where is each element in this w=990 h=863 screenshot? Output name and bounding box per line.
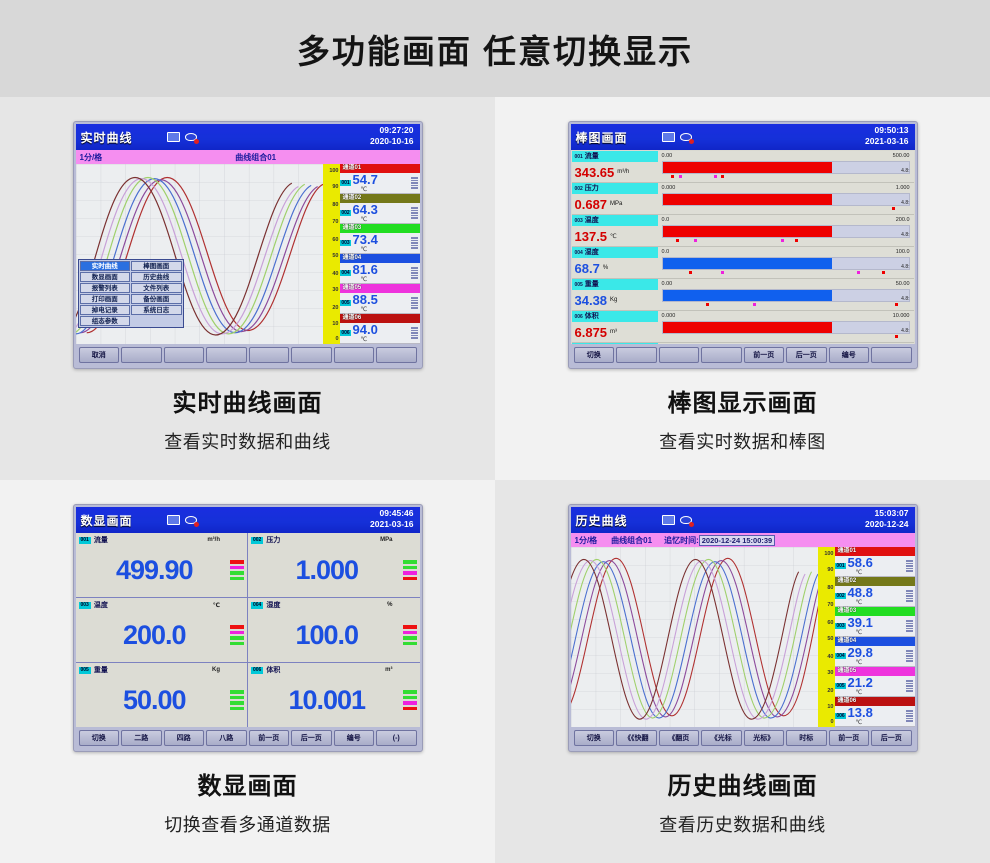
screen-title: 数显画面	[81, 512, 133, 529]
bar-scale-right: 4.8:	[901, 296, 909, 302]
fkey-4[interactable]: 前一页	[249, 730, 290, 746]
fkey-5[interactable]: 后一页	[786, 347, 827, 363]
digital-value: 499.90	[79, 557, 231, 584]
clock-time: 09:27:20	[379, 125, 413, 135]
panel-caption-sub: 查看实时数据和曲线	[164, 428, 331, 454]
bar-row-tag: 006	[575, 314, 583, 320]
axis-tick-10: 0	[830, 719, 833, 725]
bar-row-name: 003 温度	[572, 215, 658, 226]
bar-row-tag: 004	[575, 250, 583, 256]
bar-row-unit: Kg	[610, 297, 617, 303]
digital-unit: MPa	[380, 537, 392, 543]
menu-item-10[interactable]: 组态参数	[80, 316, 131, 326]
device-screen-bargraph[interactable]: 棒图画面 09:50:13 2021-03-16 001 流量	[568, 121, 918, 369]
bar-row-name: 002 压力	[572, 183, 658, 194]
function-key-bar: 切换 二路 四路 八路 前一页 后一页 编号 (-)	[76, 727, 420, 749]
bar-row-value: 0.687	[575, 198, 608, 211]
channel-value: 21.2	[847, 676, 906, 689]
bar-marks: 4.8:	[662, 270, 910, 278]
digital-cell[interactable]: 004 湿度 % 100.0	[248, 598, 420, 662]
channel-value: 81.6	[352, 263, 411, 276]
bar-track	[662, 289, 910, 302]
clock: 09:27:20 2020-10-16	[370, 125, 413, 147]
device-screen-digital[interactable]: 数显画面 09:45:46 2021-03-16 001 流量	[73, 504, 423, 752]
axis-tick-7: 30	[827, 670, 833, 676]
channel-indicator	[411, 203, 420, 223]
digital-name: 温度	[94, 600, 108, 610]
channel-tag: 001	[835, 563, 845, 569]
digital-name: 体积	[266, 665, 280, 675]
bar-row-tag: 003	[575, 218, 583, 224]
curve-infobar: 1分/格 曲线组合01 追忆时间: 2020-12-24 15:00:39	[571, 533, 915, 547]
panel-caption-sub: 切换查看多通道数据	[164, 811, 331, 837]
bar-row[interactable]: 005 重量 34.38 Kg 0.00 50.00	[572, 279, 914, 311]
clock-date: 2020-12-24	[865, 519, 908, 529]
bar-rows: 001 流量 343.65 m³/h 0.00 500.00	[571, 150, 915, 344]
alarm-leds	[403, 690, 417, 710]
digital-cell[interactable]: 001 流量 m³/h 499.90	[76, 533, 248, 597]
channel-indicator	[411, 233, 420, 253]
channel-header: 通道02	[835, 577, 915, 586]
bar-row-value: 34.38	[575, 294, 608, 307]
channel-tag: 002	[340, 210, 350, 216]
menu-item-7[interactable]: 备份画面	[131, 294, 182, 304]
digital-value: 100.0	[251, 622, 403, 649]
channel-row[interactable]: 通道02 002 48.8 ℃	[835, 577, 915, 607]
channel-header: 通道06	[835, 697, 915, 706]
function-key-bar: 取消	[76, 344, 420, 366]
panel-history-curve: 历史曲线 15:03:07 2020-12-24 1分/格 曲线组合01 追忆时…	[495, 480, 990, 863]
digital-cell[interactable]: 005 重量 Kg 50.00	[76, 663, 248, 727]
recall-time-value[interactable]: 2020-12-24 15:00:39	[699, 535, 775, 546]
clock: 09:50:13 2021-03-16	[865, 125, 908, 147]
channel-unit: ℃	[847, 659, 906, 666]
channel-header: 通道04	[835, 637, 915, 646]
titlebar-icons	[662, 132, 693, 143]
fkey-5[interactable]	[291, 347, 332, 363]
bar-track	[662, 161, 910, 174]
bar-max: 100.0	[896, 249, 910, 255]
panel-digital: 数显画面 09:45:46 2021-03-16 001 流量	[0, 480, 495, 863]
channel-header: 通道05	[340, 284, 420, 293]
channel-header: 通道04	[340, 254, 420, 263]
bar-marks: 4.8:	[662, 334, 910, 342]
axis-tick-1: 90	[332, 184, 338, 190]
channel-indicator	[906, 676, 915, 696]
channel-unit: ℃	[352, 186, 411, 193]
panel-caption-sub: 查看实时数据和棒图	[659, 428, 826, 454]
digital-cell[interactable]: 006 体积 m³ 10.001	[248, 663, 420, 727]
channel-indicator	[906, 706, 915, 726]
channel-indicator	[906, 556, 915, 576]
channel-row[interactable]: 通道03 003 73.4 ℃	[340, 224, 420, 254]
panel-caption-title: 历史曲线画面	[668, 766, 818, 801]
screen-body: 1分/格 曲线组合01 追忆时间: 2020-12-24 15:00:39	[571, 533, 915, 727]
bar-row-value: 68.7	[575, 262, 600, 275]
fkey-0[interactable]: 切换	[79, 730, 120, 746]
alarm-leds	[403, 625, 417, 645]
bar-row-tag: 001	[575, 154, 583, 160]
bar-min: 0.00	[662, 281, 673, 287]
fkey-5[interactable]: 时标	[786, 730, 827, 746]
bar-row-tag: 002	[575, 186, 583, 192]
fkey-6[interactable]: 编号	[829, 347, 870, 363]
screen-body: 1分/格 曲线组合01	[76, 150, 420, 344]
rate-label: 1分/格	[80, 152, 103, 163]
bar-min: 0.00	[662, 153, 673, 159]
bar-max: 500.00	[893, 153, 910, 159]
fkey-6[interactable]: 前一页	[829, 730, 870, 746]
group-label: 曲线组合01	[235, 152, 276, 163]
channel-tag: 005	[340, 300, 350, 306]
fkey-6[interactable]: 编号	[334, 730, 375, 746]
channel-header: 通道03	[340, 224, 420, 233]
usb-icon	[185, 515, 198, 526]
clock-date: 2020-10-16	[370, 136, 413, 146]
fkey-3[interactable]	[701, 347, 742, 363]
titlebar-icons	[167, 132, 198, 143]
bar-row[interactable]: 003 温度 137.5 ℃ 0.0 200.0	[572, 215, 914, 247]
panel-caption-sub: 查看历史数据和曲线	[659, 811, 826, 837]
digital-value: 50.00	[79, 687, 231, 714]
rate-label: 1分/格	[575, 535, 598, 546]
bar-scale-right: 4.8:	[901, 264, 909, 270]
channel-indicator	[411, 173, 420, 193]
screen-title: 历史曲线	[576, 512, 628, 529]
fkey-7[interactable]: 后一页	[871, 730, 912, 746]
alarm-leds	[230, 560, 244, 580]
fkey-0[interactable]: 取消	[79, 347, 120, 363]
bar-row[interactable]: 001 流量 343.65 m³/h 0.00 500.00	[572, 151, 914, 183]
channel-header: 通道06	[340, 314, 420, 323]
channel-tag: 006	[340, 330, 350, 336]
channel-tag: 004	[835, 653, 845, 659]
bar-track	[662, 257, 910, 270]
channel-unit: ℃	[847, 569, 906, 576]
channel-header: 通道05	[835, 667, 915, 676]
bar-max: 1.000	[896, 185, 910, 191]
curve-popup-menu[interactable]: 实时曲线 棒图画面 数显画面 历史曲线 报警列表 文件列表 打印画面 备份画面 …	[78, 259, 184, 328]
sd-card-icon	[662, 515, 675, 525]
channel-value: 88.5	[352, 293, 411, 306]
axis-tick-2: 80	[827, 585, 833, 591]
bar-row-value: 137.5	[575, 230, 608, 243]
group-label: 曲线组合01	[611, 535, 652, 546]
digital-unit: %	[387, 602, 392, 608]
channel-row[interactable]: 通道04 004 81.6 ℃	[340, 254, 420, 284]
sd-card-icon	[662, 132, 675, 142]
screen-body: 001 流量 m³/h 499.90 002 压力	[76, 533, 420, 727]
axis-tick-1: 90	[827, 567, 833, 573]
panel-grid: 实时曲线 09:27:20 2020-10-16 1分/格 曲线组合01	[0, 97, 990, 863]
digital-unit: Kg	[212, 667, 220, 673]
channel-unit: ℃	[352, 216, 411, 223]
digital-value: 200.0	[79, 622, 231, 649]
titlebar: 实时曲线 09:27:20 2020-10-16	[76, 124, 420, 150]
channel-value: 39.1	[847, 616, 906, 629]
digital-cell[interactable]: 003 温度 ℃ 200.0	[76, 598, 248, 662]
titlebar: 棒图画面 09:50:13 2021-03-16	[571, 124, 915, 150]
fkey-4[interactable]: 光标》	[744, 730, 785, 746]
menu-item-1[interactable]: 棒图画面	[131, 261, 182, 271]
channel-row[interactable]: 通道04 004 29.8 ℃	[835, 637, 915, 667]
axis-tick-8: 20	[332, 305, 338, 311]
axis-tick-0: 100	[329, 168, 338, 174]
channel-tag: 001	[340, 180, 350, 186]
channel-header: 通道01	[835, 547, 915, 556]
panel-caption-title: 实时曲线画面	[173, 383, 323, 418]
clock-time: 09:45:46	[379, 508, 413, 518]
digital-tag: 003	[79, 602, 91, 609]
axis-tick-5: 50	[827, 636, 833, 642]
bar-row-value: 343.65	[575, 166, 615, 179]
channel-value: 13.8	[847, 706, 906, 719]
fkey-7[interactable]	[376, 347, 417, 363]
bar-marks: 4.8:	[662, 174, 910, 182]
bar-row[interactable]: 004 湿度 68.7 % 0.0 100.0	[572, 247, 914, 279]
page-title: 多功能画面 任意切换显示	[297, 25, 693, 73]
curve-plot-area[interactable]	[571, 547, 818, 727]
channel-row[interactable]: 通道03 003 39.1 ℃	[835, 607, 915, 637]
channel-indicator	[411, 293, 420, 313]
fkey-1[interactable]: 二路	[121, 730, 162, 746]
menu-item-3[interactable]: 历史曲线	[131, 272, 182, 282]
menu-item-9[interactable]: 系统日志	[131, 305, 182, 315]
fkey-2[interactable]	[164, 347, 205, 363]
channel-indicator	[906, 616, 915, 636]
menu-item-8[interactable]: 掉电记录	[80, 305, 131, 315]
channel-indicator	[906, 646, 915, 666]
channel-row[interactable]: 通道02 002 64.3 ℃	[340, 194, 420, 224]
bar-row-unit: MPa	[610, 201, 622, 207]
bar-marks: 4.8:	[662, 238, 910, 246]
channel-indicator	[411, 323, 420, 343]
channel-value: 64.3	[352, 203, 411, 216]
axis-tick-10: 0	[335, 336, 338, 342]
bar-row-unit: ℃	[610, 233, 617, 240]
fkey-3[interactable]	[206, 347, 247, 363]
usb-icon	[680, 515, 693, 526]
digital-tag: 002	[251, 537, 263, 544]
fkey-3[interactable]: 八路	[206, 730, 247, 746]
device-screen-history[interactable]: 历史曲线 15:03:07 2020-12-24 1分/格 曲线组合01 追忆时…	[568, 504, 918, 752]
channel-value: 54.7	[352, 173, 411, 186]
bar-row-tag: 005	[575, 282, 583, 288]
axis-tick-5: 50	[332, 253, 338, 259]
digital-name: 压力	[266, 535, 280, 545]
bar-row[interactable]: 002 压力 0.687 MPa 0.000 1.000	[572, 183, 914, 215]
curve-y-axis: 100 90 80 70 60 50 40 30 20 10 0	[818, 547, 835, 727]
bar-row-value: 6.875	[575, 326, 608, 339]
fkey-2[interactable]	[659, 347, 700, 363]
axis-tick-3: 70	[332, 219, 338, 225]
fkey-4[interactable]	[249, 347, 290, 363]
channel-unit: ℃	[352, 276, 411, 283]
device-screen-realtime[interactable]: 实时曲线 09:27:20 2020-10-16 1分/格 曲线组合01	[73, 121, 423, 369]
fkey-0[interactable]: 切换	[574, 347, 615, 363]
recall-label: 追忆时间:	[664, 535, 699, 546]
bar-row-name: 001 流量	[572, 151, 658, 162]
channel-tag: 006	[835, 713, 845, 719]
channel-tag: 002	[835, 593, 845, 599]
channel-row[interactable]: 通道06 006 94.0 ℃	[340, 314, 420, 344]
panel-bargraph: 棒图画面 09:50:13 2021-03-16 001 流量	[495, 97, 990, 480]
bar-min: 0.000	[662, 185, 676, 191]
bar-track	[662, 225, 910, 238]
titlebar: 历史曲线 15:03:07 2020-12-24	[571, 507, 915, 533]
channel-tag: 003	[340, 240, 350, 246]
curve-plot-area[interactable]: 实时曲线 棒图画面 数显画面 历史曲线 报警列表 文件列表 打印画面 备份画面 …	[76, 164, 323, 344]
digital-name: 重量	[94, 665, 108, 675]
digital-tag: 001	[79, 537, 91, 544]
menu-item-4[interactable]: 报警列表	[80, 283, 131, 293]
bar-marks: 4.8:	[662, 206, 910, 214]
channel-row[interactable]: 通道05 005 21.2 ℃	[835, 667, 915, 697]
digital-cell[interactable]: 002 压力 MPa 1.000	[248, 533, 420, 597]
axis-tick-2: 80	[332, 202, 338, 208]
menu-item-6[interactable]: 打印画面	[80, 294, 131, 304]
curve-svg	[571, 547, 818, 727]
channel-value: 29.8	[847, 646, 906, 659]
page-banner: 多功能画面 任意切换显示	[0, 0, 990, 97]
sd-card-icon	[167, 132, 180, 142]
digital-unit: ℃	[213, 602, 220, 609]
fkey-4[interactable]: 前一页	[744, 347, 785, 363]
channel-header: 通道01	[340, 164, 420, 173]
usb-icon	[185, 132, 198, 143]
channel-value: 94.0	[352, 323, 411, 336]
usb-icon	[680, 132, 693, 143]
menu-item-2[interactable]: 数显画面	[80, 272, 131, 282]
axis-tick-4: 60	[332, 237, 338, 243]
screen-body: 001 流量 343.65 m³/h 0.00 500.00	[571, 150, 915, 344]
axis-tick-4: 60	[827, 620, 833, 626]
fkey-0[interactable]: 切换	[574, 730, 615, 746]
bar-row-name: 005 重量	[572, 279, 658, 290]
titlebar-icons	[662, 515, 693, 526]
channel-value: 73.4	[352, 233, 411, 246]
alarm-leds	[230, 625, 244, 645]
curve-infobar: 1分/格 曲线组合01	[76, 150, 420, 164]
bar-min: 0.0	[662, 217, 670, 223]
digital-value: 10.001	[251, 687, 403, 714]
digital-name: 流量	[94, 535, 108, 545]
channel-unit: ℃	[352, 306, 411, 313]
bar-min: 0.0	[662, 249, 670, 255]
channel-tag: 004	[340, 270, 350, 276]
fkey-7[interactable]: (-)	[376, 730, 417, 746]
sd-card-icon	[167, 515, 180, 525]
channel-value: 58.6	[847, 556, 906, 569]
fkey-1[interactable]: 《《快翻	[616, 730, 657, 746]
digital-grid: 001 流量 m³/h 499.90 002 压力	[76, 533, 420, 727]
fkey-5[interactable]: 后一页	[291, 730, 332, 746]
axis-tick-9: 10	[827, 704, 833, 710]
bar-min: 0.000	[662, 313, 676, 319]
menu-item-5[interactable]: 文件列表	[131, 283, 182, 293]
menu-item-0[interactable]: 实时曲线	[80, 261, 131, 271]
channel-header: 通道03	[835, 607, 915, 616]
bar-scale-right: 4.8:	[901, 168, 909, 174]
panel-caption-title: 棒图显示画面	[668, 383, 818, 418]
channel-unit: ℃	[847, 599, 906, 606]
panel-caption-title: 数显画面	[198, 766, 298, 801]
bar-row-unit: m³/h	[617, 169, 629, 175]
bar-max: 200.0	[896, 217, 910, 223]
function-key-bar: 切换 前一页 后一页 编号	[571, 344, 915, 366]
digital-unit: m³/h	[207, 537, 220, 543]
titlebar: 数显画面 09:45:46 2021-03-16	[76, 507, 420, 533]
fkey-1[interactable]	[616, 347, 657, 363]
bar-track	[662, 193, 910, 206]
clock-date: 2021-03-16	[370, 519, 413, 529]
function-key-bar: 切换 《《快翻 《翻页 《光标 光标》 时标 前一页 后一页	[571, 727, 915, 749]
channel-row[interactable]: 通道01 001 58.6 ℃	[835, 547, 915, 577]
bar-max: 50.00	[896, 281, 910, 287]
channel-row[interactable]: 通道06 006 13.8 ℃	[835, 697, 915, 727]
channel-list: 通道01 001 58.6 ℃	[835, 547, 915, 727]
channel-unit: ℃	[847, 719, 906, 726]
bar-scale-right: 4.8:	[901, 328, 909, 334]
channel-row[interactable]: 通道05 005 88.5 ℃	[340, 284, 420, 314]
channel-unit: ℃	[847, 689, 906, 696]
digital-name: 湿度	[266, 600, 280, 610]
channel-header: 通道02	[340, 194, 420, 203]
axis-tick-3: 70	[827, 602, 833, 608]
channel-value: 48.8	[847, 586, 906, 599]
bar-marks: 4.8:	[662, 302, 910, 310]
channel-row[interactable]: 通道01 001 54.7 ℃	[340, 164, 420, 194]
axis-tick-6: 40	[827, 654, 833, 660]
axis-tick-6: 40	[332, 271, 338, 277]
bar-scale-right: 4.8:	[901, 200, 909, 206]
fkey-3[interactable]: 《光标	[701, 730, 742, 746]
clock-date: 2021-03-16	[865, 136, 908, 146]
titlebar-icons	[167, 515, 198, 526]
axis-tick-7: 30	[332, 287, 338, 293]
bar-max: 10.000	[893, 313, 910, 319]
bar-row[interactable]: 006 体积 6.875 m³ 0.000 10.000	[572, 311, 914, 343]
bar-row-name: 004 湿度	[572, 247, 658, 258]
channel-unit: ℃	[352, 336, 411, 343]
fkey-1[interactable]	[121, 347, 162, 363]
curve-y-axis: 100 90 80 70 60 50 40 30 20 10 0	[323, 164, 340, 344]
channel-unit: ℃	[847, 629, 906, 636]
channel-tag: 003	[835, 623, 845, 629]
screen-title: 实时曲线	[81, 129, 133, 146]
digital-unit: m³	[385, 667, 392, 673]
alarm-leds	[230, 690, 244, 710]
clock: 15:03:07 2020-12-24	[865, 508, 908, 530]
fkey-7[interactable]	[871, 347, 912, 363]
screen-title: 棒图画面	[576, 129, 628, 146]
channel-tag: 005	[835, 683, 845, 689]
channel-list: 通道01 001 54.7 ℃	[340, 164, 420, 344]
fkey-2[interactable]: 《翻页	[659, 730, 700, 746]
clock: 09:45:46 2021-03-16	[370, 508, 413, 530]
bar-row-name: 006 体积	[572, 311, 658, 322]
clock-time: 09:50:13	[874, 125, 908, 135]
digital-tag: 005	[79, 667, 91, 674]
bar-scale-right: 4.8:	[901, 232, 909, 238]
fkey-2[interactable]: 四路	[164, 730, 205, 746]
bar-track	[662, 321, 910, 334]
fkey-6[interactable]	[334, 347, 375, 363]
channel-indicator	[906, 586, 915, 606]
digital-tag: 004	[251, 602, 263, 609]
axis-tick-0: 100	[824, 551, 833, 557]
channel-unit: ℃	[352, 246, 411, 253]
